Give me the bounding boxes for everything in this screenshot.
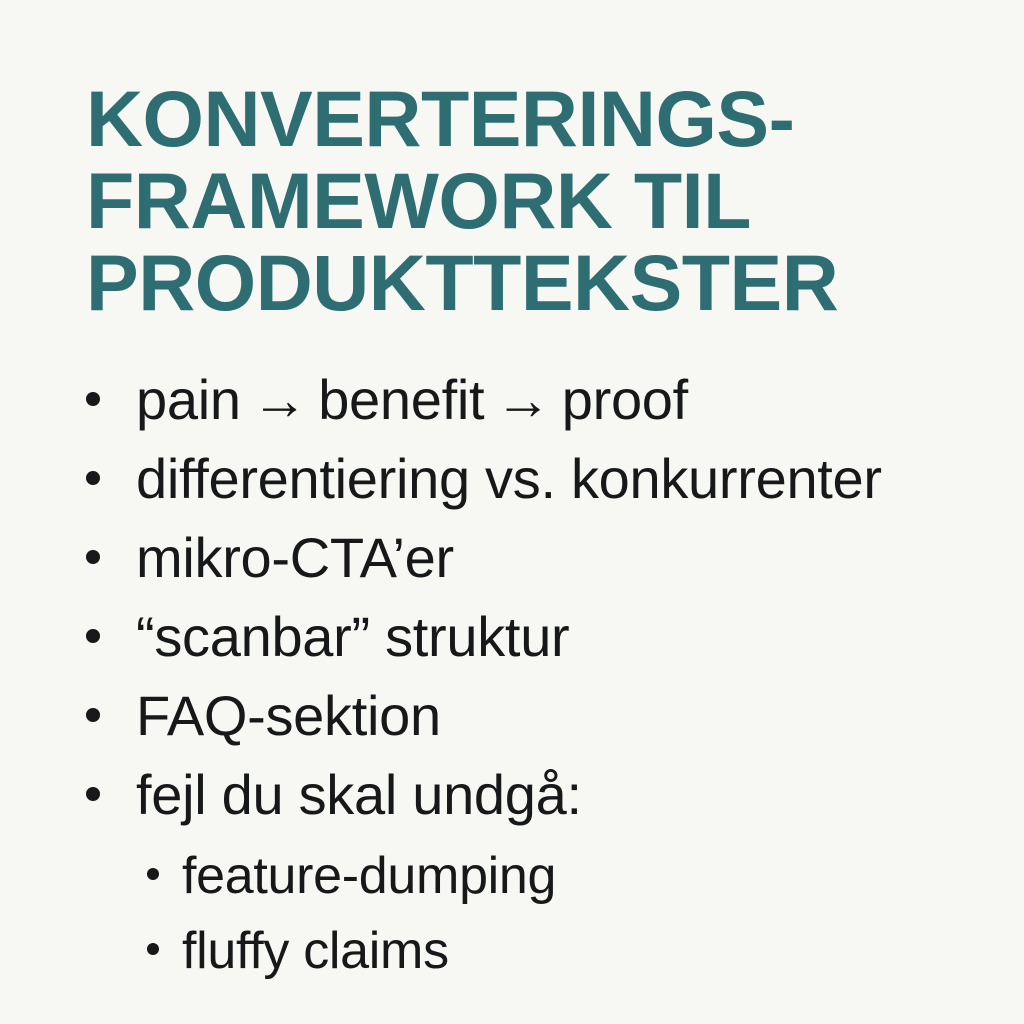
list-item-label: fejl du skal undgå: xyxy=(136,763,582,827)
list-item: FAQ-sektion xyxy=(86,684,986,763)
page-title: KONVERTERINGS- FRAMEWORK TIL PRODUKTTEKS… xyxy=(86,78,946,324)
sub-list-item: feature-dumping xyxy=(147,846,986,921)
list-item: differentiering vs. konkurrenter xyxy=(86,447,986,526)
list-item-label: pain → benefit → proof xyxy=(136,368,688,432)
list-item: fejl du skal undgå: xyxy=(86,763,986,842)
bullet-dot-icon xyxy=(86,471,100,485)
list-item-label: differentiering vs. konkurrenter xyxy=(136,447,882,511)
sub-bullet-list: feature-dumping fluffy claims xyxy=(86,846,986,996)
list-item-label: mikro-CTA’er xyxy=(136,526,454,590)
bullet-dot-icon xyxy=(86,392,100,406)
bullet-list: pain → benefit → proof differentiering v… xyxy=(86,368,986,996)
title-line-1: KONVERTERINGS- xyxy=(86,78,946,160)
list-item: “scanbar” struktur xyxy=(86,605,986,684)
sub-list-item-label: feature-dumping xyxy=(182,846,556,906)
title-line-3: PRODUKTTEKSTER xyxy=(86,242,946,324)
bullet-dot-icon xyxy=(86,629,100,643)
list-item-label: “scanbar” struktur xyxy=(136,605,569,669)
bullet-dot-small-icon xyxy=(147,943,159,955)
slide-canvas: KONVERTERINGS- FRAMEWORK TIL PRODUKTTEKS… xyxy=(0,0,1024,1024)
list-item: mikro-CTA’er xyxy=(86,526,986,605)
list-item: pain → benefit → proof xyxy=(86,368,986,447)
title-line-2: FRAMEWORK TIL xyxy=(86,160,946,242)
list-item-label: FAQ-sektion xyxy=(136,684,441,748)
sub-list-item-label: fluffy claims xyxy=(182,921,449,981)
bullet-dot-icon xyxy=(86,550,100,564)
bullet-dot-icon xyxy=(86,787,100,801)
bullet-dot-icon xyxy=(86,708,100,722)
bullet-dot-small-icon xyxy=(147,868,159,880)
sub-list-item: fluffy claims xyxy=(147,921,986,996)
